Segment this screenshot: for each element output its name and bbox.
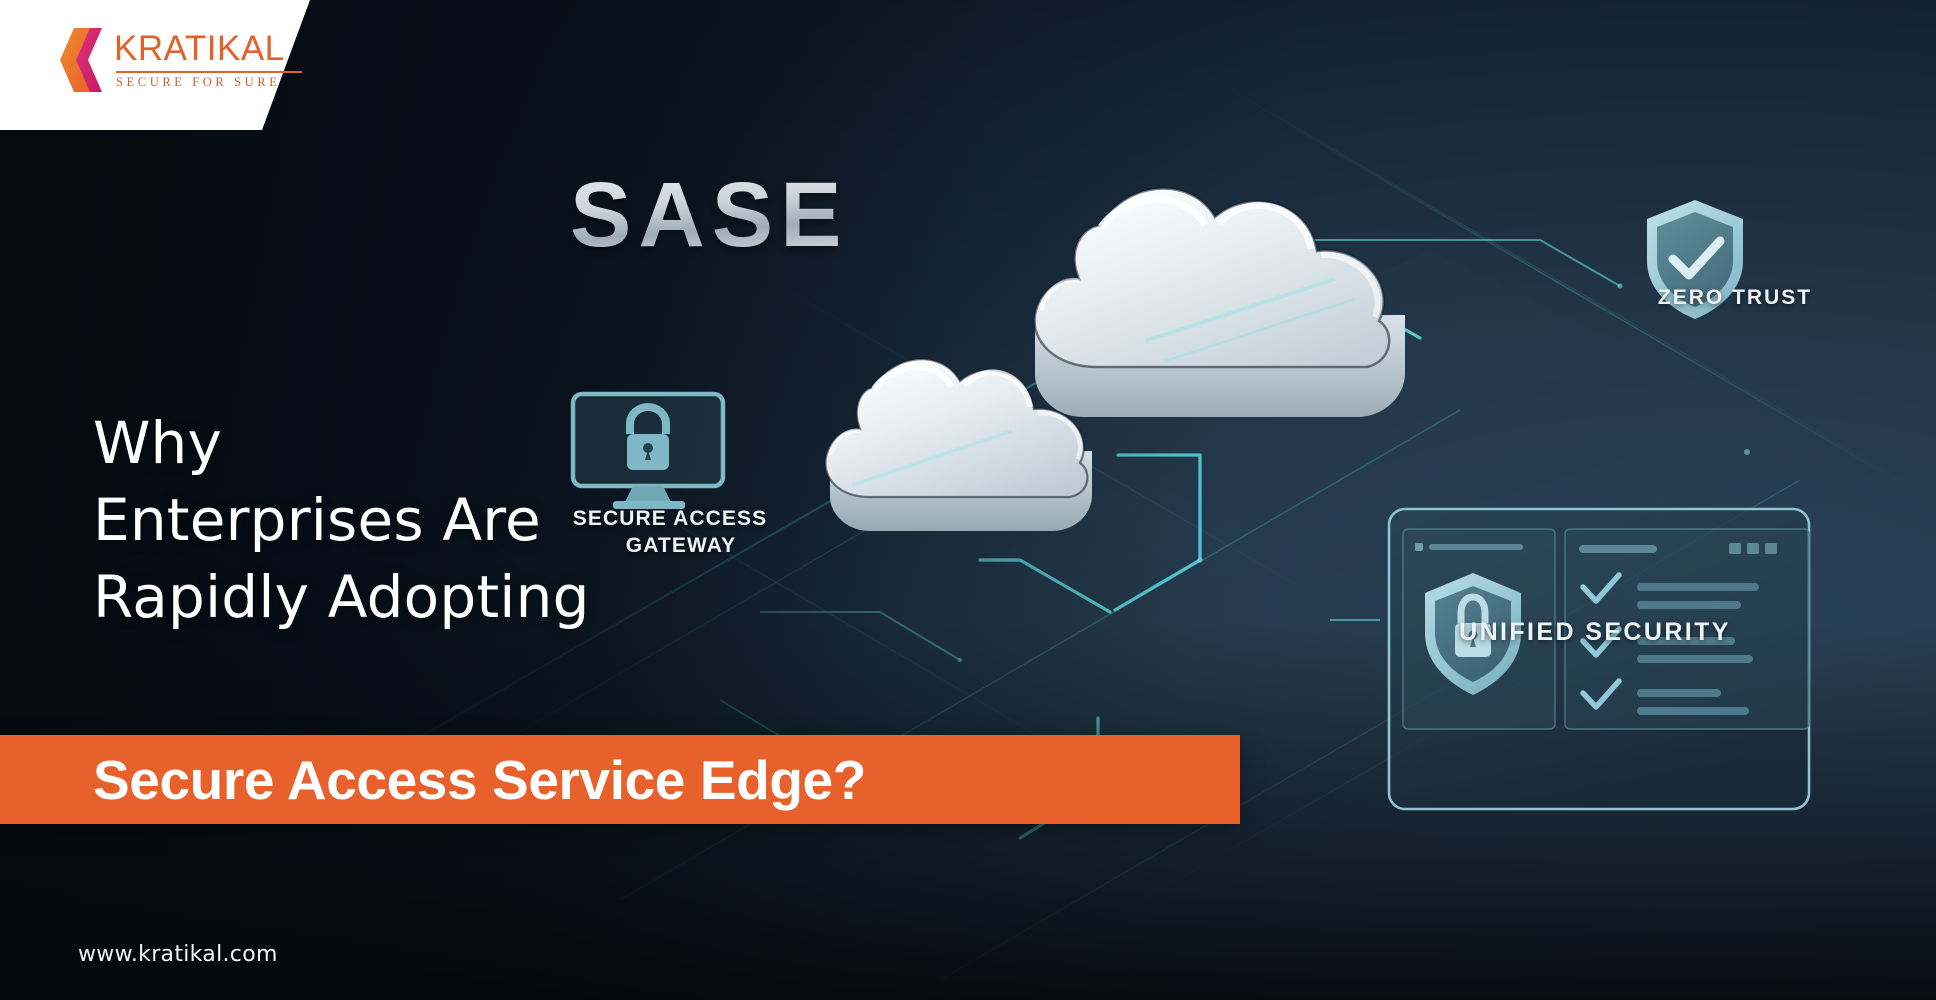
brand-divider [116, 71, 302, 73]
caption-line-2: GATEWAY [562, 533, 800, 560]
brand-logo[interactable]: KRATIKAL SECURE FOR SURE [58, 26, 302, 94]
sase-acronym: SASE [570, 163, 849, 268]
brand-logo-text: KRATIKAL SECURE FOR SURE [114, 31, 302, 88]
brand-tagline: SECURE FOR SURE [114, 76, 302, 89]
monitor-lock-icon [565, 390, 745, 515]
page-title: Why Enterprises Are Rapidly Adopting [93, 405, 590, 636]
headline-line-1: Why [93, 405, 590, 482]
brand-name: KRATIKAL [114, 31, 302, 66]
banner-canvas: SASE SECURE ACCESS GATEWAY ZER [0, 0, 1936, 1000]
headline-line-2: Enterprises Are [93, 482, 590, 559]
cloud-small-icon [812, 325, 1112, 575]
website-url[interactable]: www.kratikal.com [78, 942, 278, 967]
dashboard-shield-lock-icon [1385, 505, 1825, 825]
zero-trust-caption: ZERO TRUST [1590, 286, 1880, 310]
headline-line-3: Rapidly Adopting [93, 559, 590, 636]
highlight-banner: Secure Access Service Edge? [0, 735, 1240, 824]
unified-security-caption: UNIFIED SECURITY [1330, 618, 1860, 647]
highlight-banner-text: Secure Access Service Edge? [93, 748, 866, 812]
kratikal-chevron-logo-icon [58, 26, 104, 94]
